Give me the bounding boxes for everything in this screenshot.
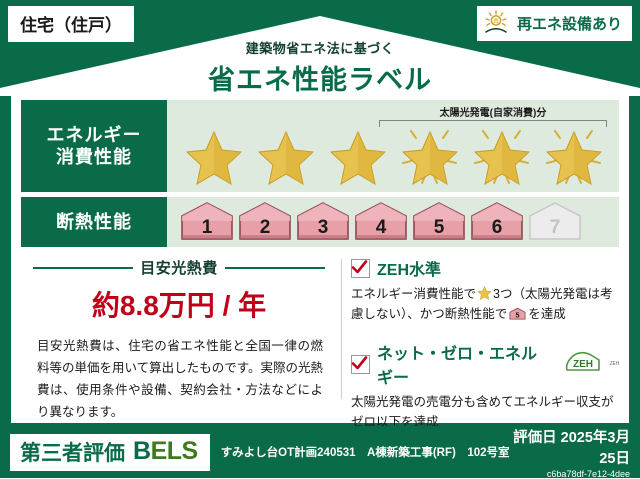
bels-letter-b: B: [133, 437, 151, 465]
zeh-standard-title-row: ZEH水準: [351, 256, 619, 280]
bels-letters-els: ELS: [151, 437, 198, 465]
zeh-standard-block: ZEH水準 エネルギー消費性能で3つ（太陽光発電は考慮しない）、かつ断熱性能で5…: [351, 256, 619, 327]
star-icon: [477, 286, 492, 300]
insulation-level-number: 7: [550, 217, 561, 239]
zeh-logo: ZEH: [563, 351, 603, 378]
insulation-level-inline: 5: [509, 310, 526, 324]
insulation-level-number: 1: [202, 217, 213, 239]
detail-columns: 目安光熱費 約8.8万円 / 年 目安光熱費は、住宅の省エネ性能と全国一律の燃料…: [21, 255, 619, 415]
utility-cost-value: 約8.8万円 / 年: [21, 284, 337, 324]
title-subtitle: 建築物省エネ法に基づく: [0, 38, 640, 57]
insulation-level: 2: [237, 201, 293, 243]
zeh-standard-description: エネルギー消費性能で3つ（太陽光発電は考慮しない）、かつ断熱性能で5を達成: [351, 284, 619, 327]
insulation-value: 1 2: [167, 197, 619, 247]
sun-icon: 再: [483, 10, 513, 36]
insulation-level-number: 2: [260, 217, 271, 239]
star-filled: [251, 121, 320, 187]
star-icon: [545, 130, 603, 186]
insulation-level-number: 5: [434, 217, 445, 239]
renewable-energy-badge: 再 再エネ設備あり: [477, 6, 632, 41]
star-solar: [395, 121, 464, 187]
label-card: エネルギー 消費性能 太陽光発電(自家消費)分: [11, 93, 629, 423]
zeh-logo-text: ZEH: [573, 359, 593, 370]
energy-performance-value: 太陽光発電(自家消費)分: [167, 100, 619, 192]
insulation-level: 4: [353, 201, 409, 243]
utility-cost-note: 目安光熱費は、住宅の省エネ性能と全国一律の燃料等の単価を用いて算出したものです。…: [37, 336, 323, 424]
star-icon: [401, 130, 459, 186]
zeh-house-logo-icon: ZEH: [563, 351, 603, 373]
star-filled: [323, 121, 392, 187]
utility-cost-heading: 目安光熱費: [33, 257, 325, 278]
utility-cost-heading-text: 目安光熱費: [140, 257, 218, 278]
housing-type-label: 住宅（住戸）: [20, 16, 122, 35]
evaluation-date: 評価日 2025年3月25日: [510, 426, 630, 468]
insulation-scale: 1 2: [179, 201, 583, 243]
insulation-label: 断熱性能: [56, 211, 132, 234]
utility-cost-column: 目安光熱費 約8.8万円 / 年 目安光熱費は、住宅の省エネ性能と全国一律の燃料…: [21, 255, 337, 415]
check-icon: [350, 258, 369, 277]
solar-bracket-label: 太陽光発電(自家消費)分: [379, 104, 607, 119]
heading-rule-right: [225, 267, 325, 269]
energy-performance-label: 住宅（住戸） 再 再エネ設備あり 建築物省エネ法に基づく: [0, 0, 640, 478]
insulation-level: 1: [179, 201, 235, 243]
bottom-bar: 第三者評価 BELS すみよし台OT計画240531 A棟新築工事(RF) 10…: [0, 426, 640, 478]
star-icon: [185, 130, 243, 186]
insulation-label-box: 断熱性能: [21, 197, 167, 247]
zeh-desc-part1: エネルギー消費性能で: [351, 287, 476, 301]
energy-performance-label-box: エネルギー 消費性能: [21, 100, 167, 192]
evaluation-info: 評価日 2025年3月25日 c6ba78df-7e12-4dee: [510, 426, 630, 479]
heading-rule-left: [33, 267, 133, 269]
insulation-level-number: 5: [516, 311, 520, 320]
energy-performance-row: エネルギー 消費性能 太陽光発電(自家消費)分: [21, 100, 619, 192]
insulation-level-inactive: 7: [527, 201, 583, 243]
insulation-performance-row: 断熱性能 1: [21, 197, 619, 247]
zeh-logo-caption: ZEH: [610, 361, 619, 367]
zeh-desc-part3: を達成: [528, 307, 566, 321]
housing-type-badge: 住宅（住戸）: [8, 6, 134, 42]
star-icon: [257, 130, 315, 186]
net-zero-title: ネット・ゼロ・エネルギー: [377, 340, 553, 388]
insulation-level-number: 4: [376, 217, 387, 239]
insulation-level-number: 6: [492, 217, 503, 239]
insulation-level: 5: [411, 201, 467, 243]
star-icon: [473, 130, 531, 186]
star-filled: [179, 121, 248, 187]
property-name: すみよし台OT計画240531 A棟新築工事(RF) 102号室: [221, 444, 510, 460]
header-band: 住宅（住戸） 再 再エネ設備あり 建築物省エネ法に基づく: [0, 0, 640, 96]
title-main: 省エネ性能ラベル: [0, 58, 640, 96]
checkbox-checked: [351, 355, 370, 374]
star-solar: [467, 121, 536, 187]
insulation-level: 3: [295, 201, 351, 243]
evaluation-code: c6ba78df-7e12-4dee: [510, 469, 630, 479]
net-zero-energy-block: ネット・ゼロ・エネルギー ZEH ZEH 太陽光発電の売電分も含めてエネルギー収…: [351, 340, 619, 432]
energy-label-line2: 消費性能: [56, 146, 132, 169]
insulation-level-number: 3: [318, 217, 329, 239]
zeh-column: ZEH水準 エネルギー消費性能で3つ（太陽光発電は考慮しない）、かつ断熱性能で5…: [337, 255, 619, 415]
checkbox-checked: [351, 259, 370, 278]
label-title: 建築物省エネ法に基づく 省エネ性能ラベル: [0, 38, 640, 96]
energy-label-line1: エネルギー: [47, 124, 142, 147]
house-icon: 5: [509, 307, 526, 321]
check-icon: [350, 354, 369, 373]
bels-jp-text: 第三者評価: [20, 437, 125, 467]
bels-badge: 第三者評価 BELS: [10, 434, 210, 471]
svg-text:再: 再: [493, 18, 499, 25]
renewable-energy-label: 再エネ設備あり: [517, 13, 622, 34]
star-solar: [539, 121, 608, 187]
bels-en-text: BELS: [133, 437, 198, 466]
star-icon: [329, 130, 387, 186]
insulation-level: 6: [469, 201, 525, 243]
zeh-standard-title: ZEH水準: [377, 256, 441, 280]
star-rating: [179, 121, 608, 187]
net-zero-title-row: ネット・ゼロ・エネルギー ZEH ZEH: [351, 340, 619, 388]
